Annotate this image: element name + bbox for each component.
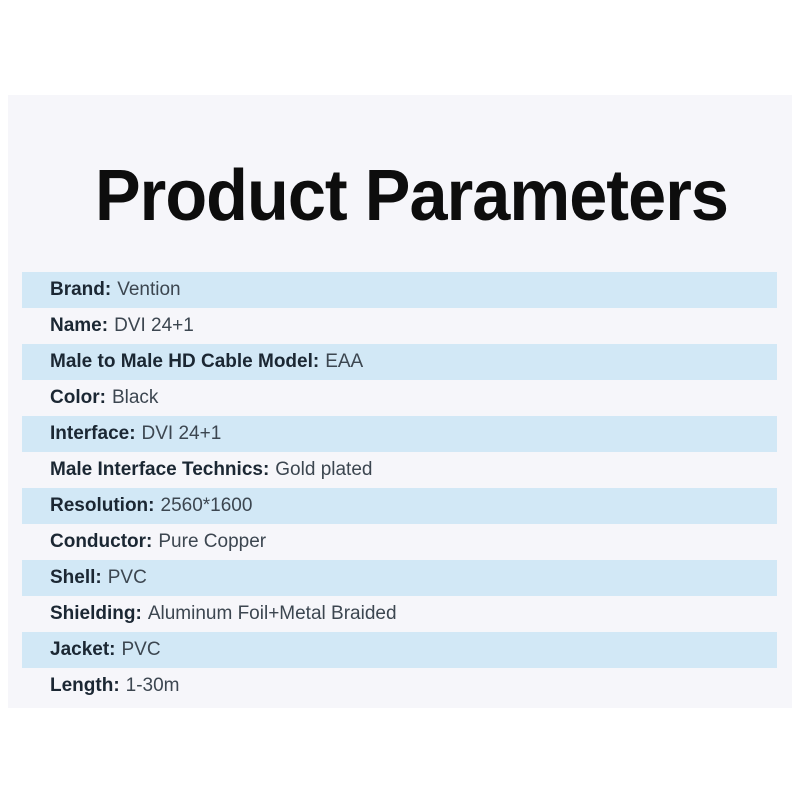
spec-separator: : (105, 279, 111, 300)
spec-label: Brand (50, 279, 105, 300)
spec-separator: : (146, 531, 152, 552)
spec-value: Vention (117, 279, 180, 300)
page-title: Product Parameters (95, 160, 703, 232)
spec-value: 2560*1600 (161, 495, 253, 516)
specification-table: Brand:VentionName:DVI 24+1Male to Male H… (22, 272, 777, 704)
spec-label: Color (50, 387, 100, 408)
spec-row: Color:Black (22, 380, 777, 416)
spec-value: PVC (122, 639, 161, 660)
spec-label: Resolution (50, 495, 148, 516)
spec-separator: : (95, 567, 101, 588)
spec-separator: : (129, 423, 135, 444)
spec-value: Black (112, 387, 158, 408)
spec-row: Male to Male HD Cable Model:EAA (22, 344, 777, 380)
spec-separator: : (313, 351, 319, 372)
spec-row: Name:DVI 24+1 (22, 308, 777, 344)
spec-label: Length (50, 675, 113, 696)
spec-row: Male Interface Technics:Gold plated (22, 452, 777, 488)
spec-separator: : (102, 315, 108, 336)
spec-label: Male Interface Technics (50, 459, 263, 480)
spec-value: Aluminum Foil+Metal Braided (148, 603, 397, 624)
spec-row: Length:1-30m (22, 668, 777, 704)
spec-separator: : (148, 495, 154, 516)
spec-row: Resolution:2560*1600 (22, 488, 777, 524)
spec-separator: : (109, 639, 115, 660)
spec-value: 1-30m (126, 675, 180, 696)
spec-label: Male to Male HD Cable Model (50, 351, 313, 372)
spec-value: DVI 24+1 (114, 315, 194, 336)
spec-value: EAA (325, 351, 363, 372)
spec-label: Shielding (50, 603, 136, 624)
spec-label: Jacket (50, 639, 109, 660)
spec-value: Gold plated (275, 459, 372, 480)
spec-label: Interface (50, 423, 129, 444)
spec-separator: : (113, 675, 119, 696)
product-parameters-screen: Product Parameters Brand:VentionName:DVI… (0, 0, 800, 800)
spec-value: DVI 24+1 (142, 423, 222, 444)
spec-row: Brand:Vention (22, 272, 777, 308)
spec-separator: : (263, 459, 269, 480)
spec-separator: : (100, 387, 106, 408)
spec-label: Name (50, 315, 102, 336)
spec-value: Pure Copper (158, 531, 266, 552)
spec-value: PVC (108, 567, 147, 588)
spec-label: Conductor (50, 531, 146, 552)
spec-row: Shell:PVC (22, 560, 777, 596)
spec-row: Shielding:Aluminum Foil+Metal Braided (22, 596, 777, 632)
spec-separator: : (136, 603, 142, 624)
spec-row: Jacket:PVC (22, 632, 777, 668)
spec-row: Interface:DVI 24+1 (22, 416, 777, 452)
spec-label: Shell (50, 567, 95, 588)
spec-row: Conductor:Pure Copper (22, 524, 777, 560)
